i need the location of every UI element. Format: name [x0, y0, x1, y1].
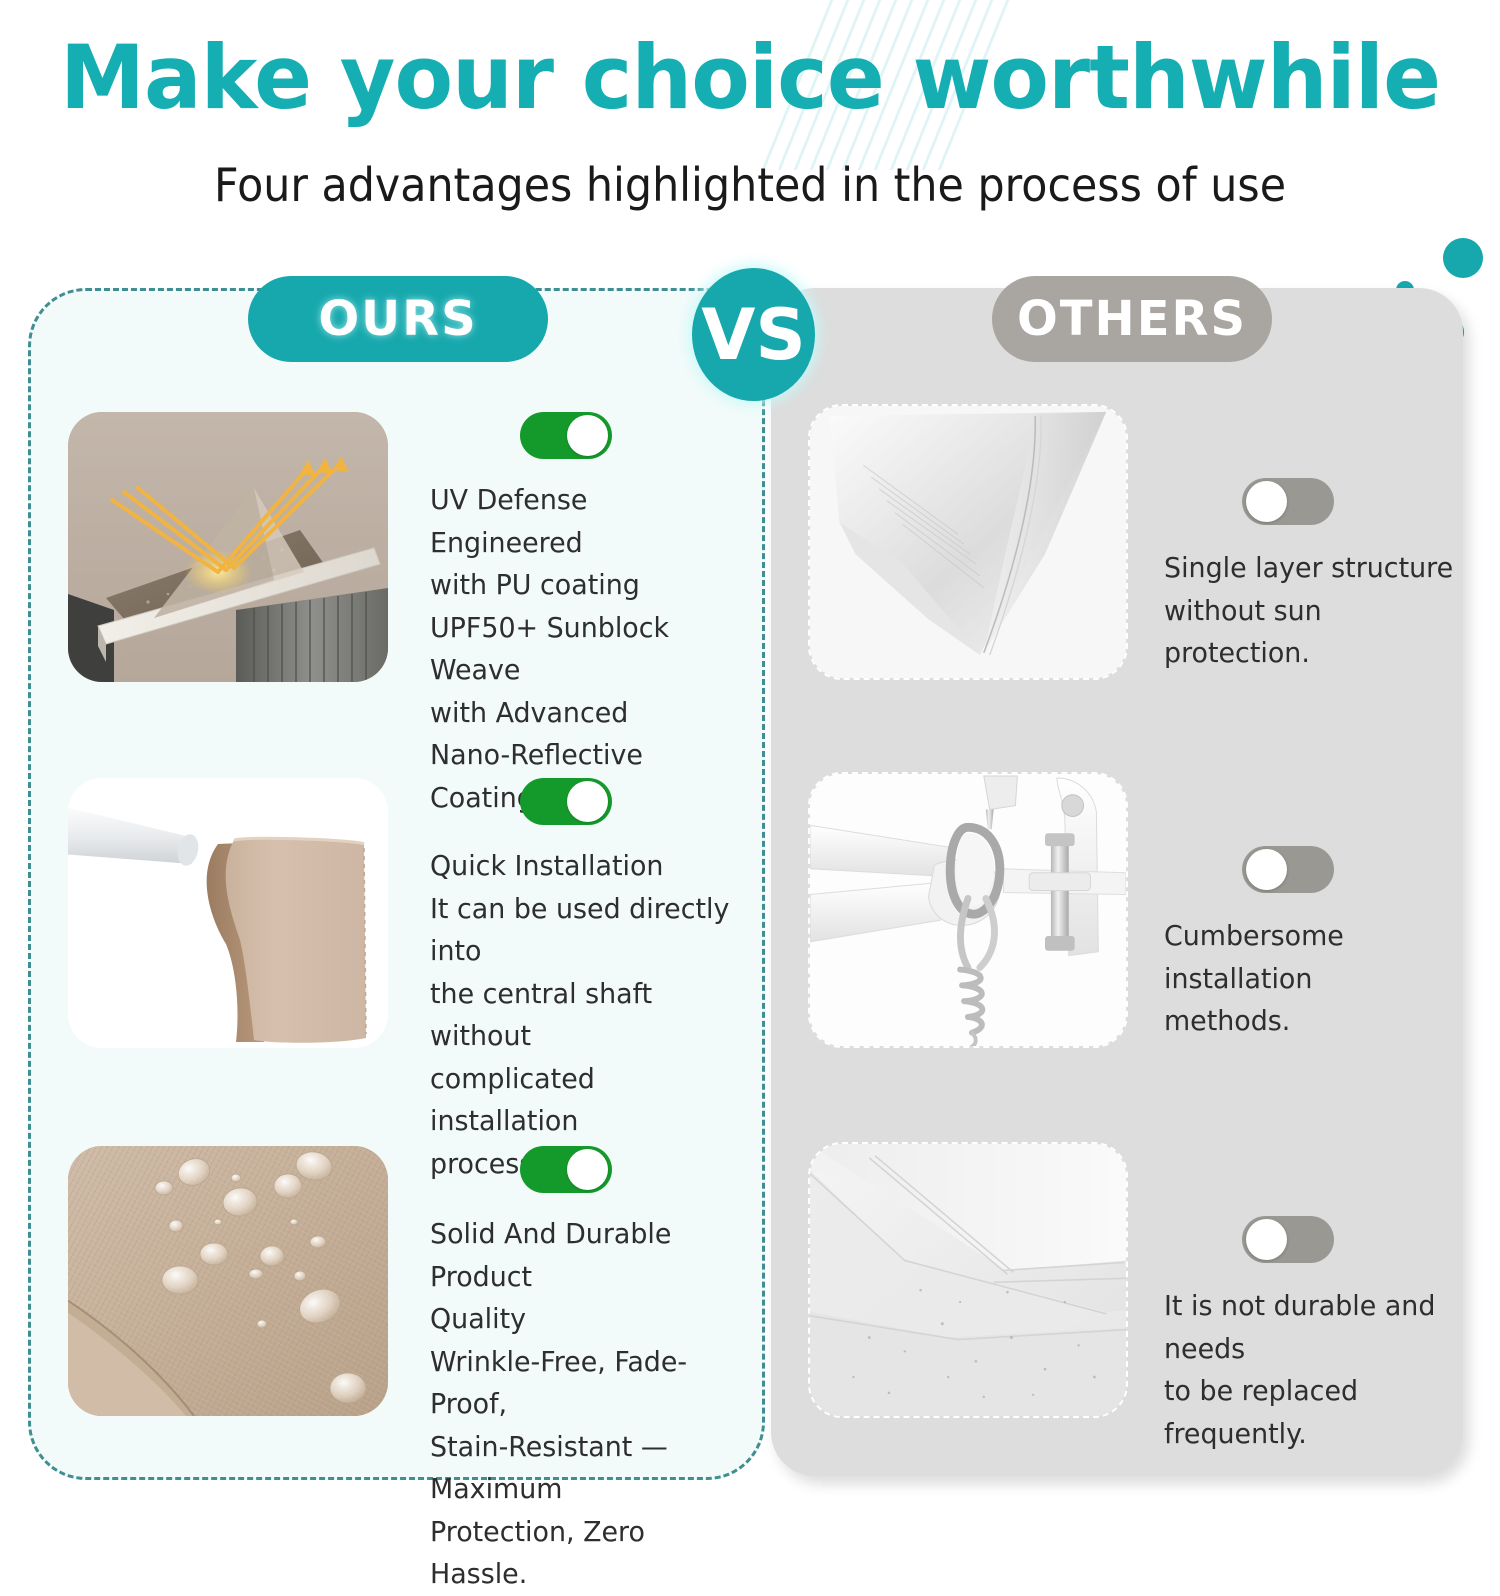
- flimsy-nonwoven-fabric-photo: [808, 1142, 1128, 1418]
- page-title: Make your choice worthwhile: [23, 32, 1478, 124]
- ours-feature-row: UV Defense Engineered with PU coating UP…: [68, 412, 754, 819]
- feature-detail: It is not durable and needs to be replac…: [1162, 1142, 1472, 1455]
- toggle-knob: [1246, 849, 1287, 890]
- toggle-knob: [1246, 481, 1287, 522]
- toggle-knob: [567, 415, 608, 456]
- bracket-rope-svg: [810, 774, 1126, 1047]
- vs-badge: VS: [692, 268, 815, 401]
- nonwoven-fabric-svg: [810, 1144, 1126, 1417]
- white-fabric-svg: [810, 406, 1126, 679]
- others-feature-row: Single layer structure without sun prote…: [808, 404, 1472, 680]
- water-repellent-fabric-photo: [68, 1146, 388, 1416]
- feature-toggle-on[interactable]: [520, 1146, 612, 1193]
- install-illustration-svg: [68, 778, 388, 1048]
- ours-feature-row: Quick Installation It can be used direct…: [68, 778, 754, 1185]
- feature-detail: Solid And Durable Product Quality Wrinkl…: [424, 1146, 754, 1596]
- page-subtitle: Four advantages highlighted in the proce…: [53, 158, 1448, 212]
- uv-illustration-svg: [68, 412, 388, 682]
- feature-text: Cumbersome installation methods.: [1164, 915, 1460, 1043]
- header: Make your choice worthwhile Four advanta…: [0, 0, 1500, 250]
- complicated-bracket-rope-photo: [808, 772, 1128, 1048]
- feature-toggle-off[interactable]: [1242, 846, 1334, 893]
- toggle-knob: [1246, 1219, 1287, 1260]
- feature-toggle-off[interactable]: [1242, 478, 1334, 525]
- feature-detail: Quick Installation It can be used direct…: [424, 778, 754, 1185]
- feature-toggle-off[interactable]: [1242, 1216, 1334, 1263]
- ours-feature-row: Solid And Durable Product Quality Wrinkl…: [68, 1146, 754, 1596]
- feature-detail: Single layer structure without sun prote…: [1162, 404, 1472, 675]
- feature-detail: Cumbersome installation methods.: [1162, 772, 1472, 1043]
- toggle-knob: [567, 781, 608, 822]
- others-feature-row: It is not durable and needs to be replac…: [808, 1142, 1472, 1455]
- feature-toggle-on[interactable]: [520, 412, 612, 459]
- teal-dot-large-icon: [1443, 238, 1483, 278]
- feature-text: UV Defense Engineered with PU coating UP…: [430, 479, 741, 819]
- fabric-droplets-svg: [68, 1146, 388, 1416]
- feature-text: Single layer structure without sun prote…: [1164, 547, 1460, 675]
- others-feature-row: Cumbersome installation methods.: [808, 772, 1472, 1048]
- toggle-knob: [567, 1149, 608, 1190]
- feature-detail: UV Defense Engineered with PU coating UP…: [424, 412, 754, 819]
- uv-reflective-coating-illustration: [68, 412, 388, 682]
- ours-badge: OURS: [248, 276, 548, 362]
- others-badge: OTHERS: [992, 276, 1272, 362]
- quick-install-shaft-sleeve-illustration: [68, 778, 388, 1048]
- single-layer-white-fabric-photo: [808, 404, 1128, 680]
- feature-text: Solid And Durable Product Quality Wrinkl…: [430, 1213, 741, 1596]
- feature-text: Quick Installation It can be used direct…: [430, 845, 741, 1185]
- feature-toggle-on[interactable]: [520, 778, 612, 825]
- feature-text: It is not durable and needs to be replac…: [1164, 1285, 1460, 1455]
